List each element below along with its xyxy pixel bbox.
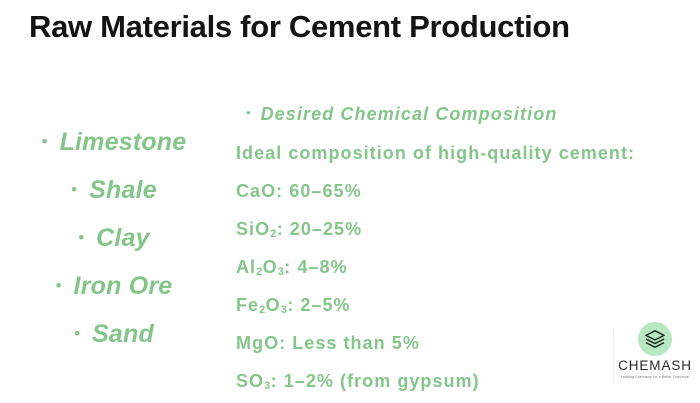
composition-heading-label: Desired Chemical Composition <box>261 104 558 125</box>
formula-subscript: 3 <box>264 380 271 392</box>
formula-label: MgO <box>236 333 279 353</box>
list-item: • Shale <box>0 176 228 224</box>
formula-subscript: 2 <box>259 304 266 316</box>
list-item-label: Iron Ore <box>74 272 173 301</box>
brand-wordmark: CHEMASH <box>618 359 692 374</box>
list-item-label: Shale <box>89 176 157 205</box>
list-item: • Limestone <box>0 128 228 176</box>
bullet-icon: • <box>246 106 251 119</box>
bullet-icon: • <box>42 133 48 150</box>
brand-tagline: Leading Chemistry for a Better Tomorrow <box>621 375 689 379</box>
list-item-label: Sand <box>92 320 154 349</box>
formula-value: : 1–2% (from gypsum) <box>271 371 480 391</box>
list-item-label: Limestone <box>60 128 187 157</box>
composition-row-cao: CaO: 60–65% <box>236 172 700 210</box>
slide-canvas: Raw Materials for Cement Production • Li… <box>0 0 700 400</box>
bullet-icon: • <box>74 325 80 342</box>
bullet-icon: • <box>78 229 84 246</box>
list-item: • Clay <box>0 224 228 272</box>
bullet-icon: • <box>71 181 77 198</box>
composition-row-al2o3: Al2O3: 4–8% <box>236 248 700 286</box>
bullet-icon: • <box>56 277 62 294</box>
raw-materials-list: • Limestone • Shale • Clay • Iron Ore • … <box>0 128 228 368</box>
page-title: Raw Materials for Cement Production <box>29 8 570 47</box>
formula-label: SiO <box>236 219 270 239</box>
layers-stack-icon <box>644 329 666 349</box>
formula-subscript: 2 <box>256 266 263 278</box>
logo-circle <box>638 322 672 356</box>
formula-label: Fe <box>236 295 259 315</box>
formula-value: : 4–8% <box>284 257 347 277</box>
composition-row-fe2o3: Fe2O3: 2–5% <box>236 286 700 324</box>
formula-label-mid: O <box>266 295 281 315</box>
formula-label: CaO <box>236 181 276 201</box>
formula-subscript: 3 <box>278 266 285 278</box>
formula-value: : 60–65% <box>276 181 361 201</box>
formula-subscript: 2 <box>270 228 277 240</box>
formula-label: Al <box>236 257 256 277</box>
composition-row-sio2: SiO2: 20–25% <box>236 210 700 248</box>
composition-heading: • Desired Chemical Composition <box>236 104 700 134</box>
formula-value: : 2–5% <box>287 295 350 315</box>
list-item-label: Clay <box>96 224 150 253</box>
brand-logo: CHEMASH Leading Chemistry for a Better T… <box>612 322 698 394</box>
formula-label-mid: O <box>263 257 278 277</box>
formula-label: SO <box>236 371 264 391</box>
list-item: • Sand <box>0 320 228 368</box>
list-item: • Iron Ore <box>0 272 228 320</box>
formula-subscript: 3 <box>281 304 288 316</box>
formula-value: : 20–25% <box>277 219 362 239</box>
formula-value: : Less than 5% <box>279 333 420 353</box>
composition-intro: Ideal composition of high-quality cement… <box>236 134 700 172</box>
